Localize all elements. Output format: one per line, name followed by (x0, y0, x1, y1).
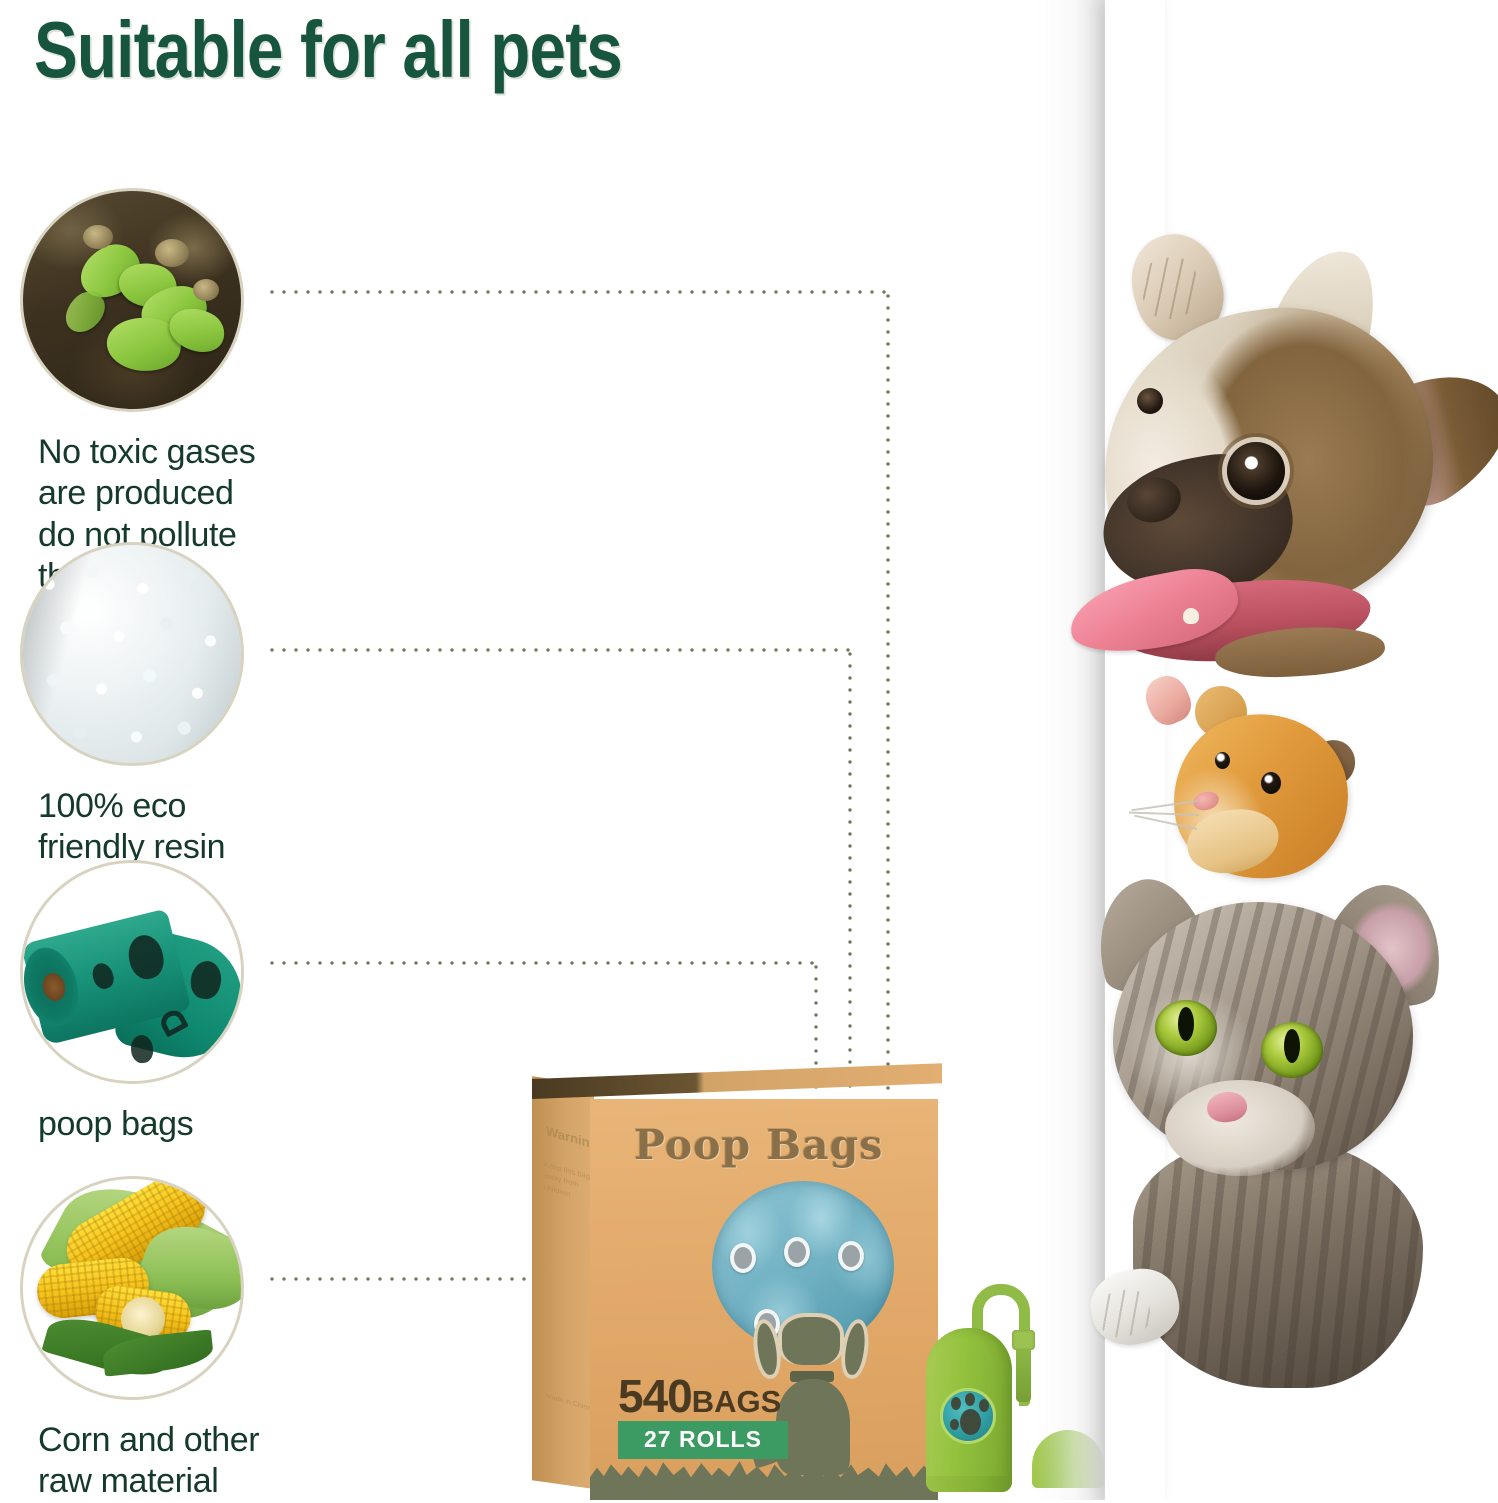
dispenser-buckle (1012, 1330, 1035, 1350)
feature-poop-bags: poop bags (20, 860, 260, 1160)
gray-tabby-kitten-peeking (1073, 880, 1498, 1400)
feature-label-eco-friendly-resin: 100% eco friendly resin (38, 786, 260, 869)
feature-image-resin (20, 542, 244, 766)
box-side-warning: Warning! (546, 1123, 592, 1151)
feature-corn-raw-material: Corn and other raw material (20, 1176, 260, 1486)
dispenser-base (926, 1476, 1012, 1492)
feature-image-corn (20, 1176, 244, 1400)
feature-image-seedlings (20, 188, 244, 412)
box-side-panel: Warning! Keep this bag away from childre… (532, 1076, 594, 1489)
feature-eco-friendly-resin: 100% eco friendly resin (20, 542, 260, 842)
feature-label-poop-bags: poop bags (38, 1104, 193, 1145)
feature-image-bag-roll (20, 860, 244, 1084)
pets-panel (1035, 0, 1498, 1500)
box-top-edge (532, 1063, 942, 1099)
box-side-origin: Made in China (546, 1393, 596, 1414)
product-box: Warning! Keep this bag away from childre… (530, 1085, 950, 1500)
feature-no-toxic-gases: No toxic gases are produced do not pollu… (20, 188, 260, 488)
box-rolls-badge: 27 ROLLS (618, 1421, 788, 1459)
page-title: Suitable for all pets (34, 4, 622, 96)
box-bag-count: 540BAGS (618, 1369, 781, 1423)
paw-print-icon (940, 1388, 996, 1444)
feature-label-corn-raw-material: Corn and other raw material (38, 1420, 259, 1503)
box-side-note: Keep this bag away from children (544, 1158, 596, 1206)
french-bulldog-peeking (1075, 190, 1498, 690)
box-bag-count-unit: BAGS (692, 1384, 782, 1419)
box-bag-count-number: 540 (618, 1370, 692, 1422)
box-title: Poop Bags (634, 1121, 883, 1169)
golden-hamster-peeking (1143, 668, 1393, 898)
